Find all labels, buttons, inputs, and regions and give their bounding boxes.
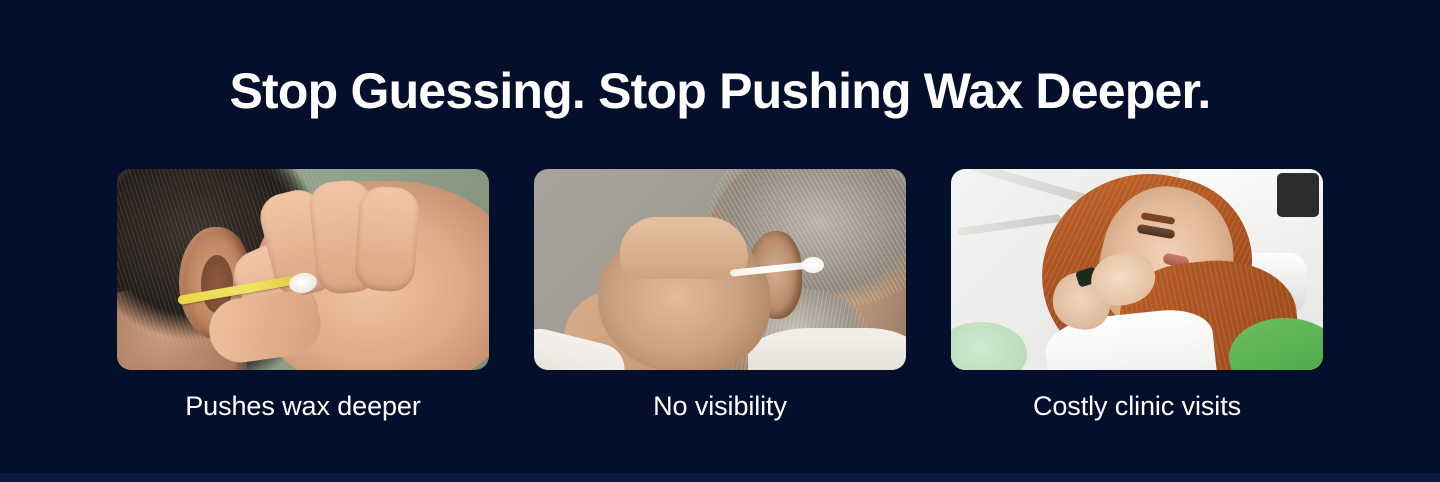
bottom-divider-band (0, 473, 1440, 482)
card-caption-2: No visibility (534, 390, 906, 422)
lamp-arm-shape (970, 169, 1094, 205)
problem-card-1 (117, 169, 489, 370)
clinic-visit-photo (951, 169, 1323, 370)
chair-pad-shape (951, 322, 1027, 370)
cotton-swab-ear-photo (117, 169, 489, 370)
card-caption-1: Pushes wax deeper (117, 390, 489, 422)
problem-section: Stop Guessing. Stop Pushing Wax Deeper. (0, 0, 1440, 482)
caption-row: Pushes wax deeper No visibility Costly c… (117, 390, 1323, 422)
card-row (117, 169, 1323, 370)
cotton-swab-tip (802, 257, 824, 273)
problem-card-2 (534, 169, 906, 370)
problem-card-3 (951, 169, 1323, 370)
lamp-arm-shape (957, 214, 1061, 236)
section-heading: Stop Guessing. Stop Pushing Wax Deeper. (0, 60, 1440, 122)
card-caption-3: Costly clinic visits (951, 390, 1323, 422)
finger-shape (353, 185, 420, 293)
collar-shape (748, 328, 906, 370)
knuckles-shape (620, 217, 748, 279)
no-visibility-photo (534, 169, 906, 370)
monitor-shape (1277, 173, 1319, 217)
